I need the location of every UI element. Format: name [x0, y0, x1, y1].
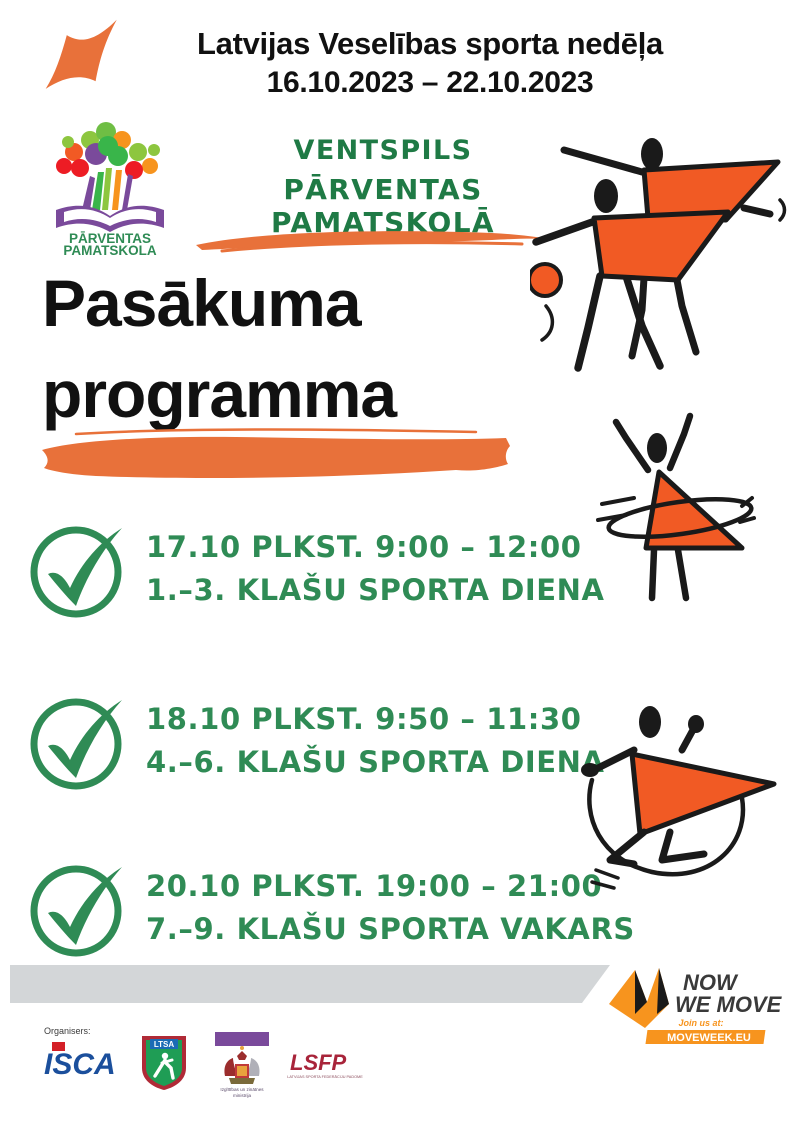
event-time: 20.10 PLKST. 19:00 – 21:00: [146, 867, 635, 906]
izm-logo[interactable]: Izglītības un zinātnes ministrija: [203, 1032, 281, 1100]
ltsa-logo-text: LTSA: [154, 1040, 175, 1049]
check-circle-icon: [26, 516, 132, 622]
main-title-line1: Pasākuma: [42, 258, 562, 349]
venue-heading: VENTSPILS PĀRVENTAS PAMATSKOLĀ: [178, 135, 588, 239]
event-text: 18.10 PLKST. 9:50 – 11:30 4.–6. KLAŠU SP…: [146, 700, 605, 782]
organisers-row: Organisers: ISCA LTSA: [38, 1026, 378, 1106]
main-title: Pasākuma programma: [42, 258, 562, 440]
event-name: 4.–6. KLAŠU SPORTA DIENA: [146, 743, 605, 782]
event-item[interactable]: 17.10 PLKST. 9:00 – 12:00 1.–3. KLAŠU SP…: [26, 516, 666, 622]
lsfp-logo-text: LSFP: [290, 1050, 347, 1075]
page-title: Latvijas Veselības sporta nedēļa 16.10.2…: [130, 24, 730, 102]
orange-flag-icon: [38, 14, 134, 110]
isca-logo[interactable]: ISCA: [42, 1040, 128, 1080]
check-circle-icon: [26, 688, 132, 794]
event-item[interactable]: 20.10 PLKST. 19:00 – 21:00 7.–9. KLAŠU S…: [26, 855, 666, 961]
event-time: 17.10 PLKST. 9:00 – 12:00: [146, 528, 605, 567]
header-title-line1: Latvijas Veselības sporta nedēļa: [197, 26, 663, 61]
lsfp-logo[interactable]: LSFP LATVIJAS SPORTA FEDERĀCIJU PADOME: [286, 1048, 364, 1082]
stick-figure-hula-hoop-illustration: [592, 398, 798, 604]
poster-root: Latvijas Veselības sporta nedēļa 16.10.2…: [0, 0, 800, 1132]
izm-logo-text: Izglītības un zinātnes: [220, 1087, 264, 1092]
now-we-move-logo[interactable]: NOW WE MOVE Join us at: MOVEWEEK.EU: [605, 962, 793, 1046]
school-tree-book-logo: PĀRVENTAS PAMATSKOLA: [34, 106, 186, 256]
event-text: 20.10 PLKST. 19:00 – 21:00 7.–9. KLAŠU S…: [146, 867, 635, 949]
event-name: 7.–9. KLAŠU SPORTA VAKARS: [146, 910, 635, 949]
now-we-move-line2: WE MOVE: [675, 992, 783, 1017]
event-time: 18.10 PLKST. 9:50 – 11:30: [146, 700, 605, 739]
stick-figure-jump-rope-illustration: [578, 688, 800, 894]
join-us-label: Join us at:: [678, 1018, 723, 1028]
two-stick-figures-with-ball-illustration: [530, 128, 798, 374]
footer-grey-band: [10, 965, 610, 1003]
venue-city: VENTSPILS: [178, 135, 588, 167]
moveweek-website: MOVEWEEK.EU: [667, 1032, 751, 1044]
lsfp-logo-text2: LATVIJAS SPORTA FEDERĀCIJU PADOME: [287, 1075, 363, 1079]
event-item[interactable]: 18.10 PLKST. 9:50 – 11:30 4.–6. KLAŠU SP…: [26, 688, 666, 794]
organisers-label: Organisers:: [44, 1026, 91, 1036]
event-name: 1.–3. KLAŠU SPORTA DIENA: [146, 571, 605, 610]
latvia-coat-of-arms: [224, 1046, 259, 1084]
event-text: 17.10 PLKST. 9:00 – 12:00 1.–3. KLAŠU SP…: [146, 528, 605, 610]
tree-trunk-stripes: [82, 168, 133, 210]
orange-underline-icon: [192, 227, 552, 253]
check-circle-icon: [26, 855, 132, 961]
isca-logo-text: ISCA: [44, 1048, 116, 1080]
school-logo-name-line2: PAMATSKOLA: [63, 243, 156, 256]
header-title-line2: 16.10.2023 – 22.10.2023: [130, 64, 730, 102]
izm-logo-text2: ministrija: [233, 1093, 252, 1098]
orange-brush-stroke-icon: [36, 428, 514, 484]
ltsa-logo[interactable]: LTSA: [138, 1032, 190, 1092]
now-we-move-arrow-logo: NOW WE MOVE Join us at: MOVEWEEK.EU: [605, 962, 793, 1046]
main-title-line2: programma: [42, 349, 562, 440]
open-book: [56, 206, 164, 232]
school-logo-graphic: PĀRVENTAS PAMATSKOLA: [34, 106, 186, 256]
